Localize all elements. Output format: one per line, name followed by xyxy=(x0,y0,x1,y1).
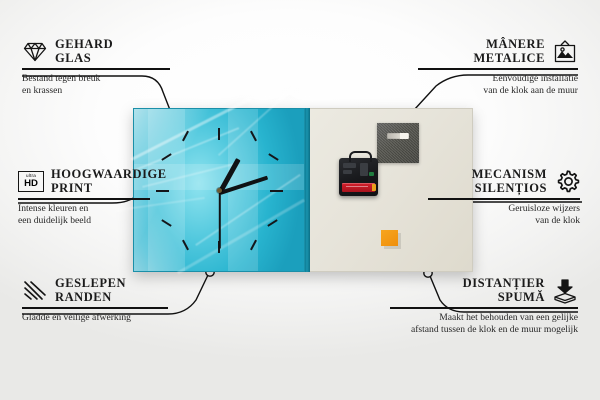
metal-hanger-part xyxy=(377,123,419,163)
diamond-icon xyxy=(22,39,48,65)
feature-title: GEHARD GLAS xyxy=(55,38,113,65)
gear-icon xyxy=(554,169,580,195)
feature-description: Gladde en veilige afwerking xyxy=(22,312,202,324)
feature-rule xyxy=(22,307,168,309)
clock-mechanism-part xyxy=(339,158,378,196)
feature-title: DISTANȚIER SPUMĂ xyxy=(463,277,545,304)
foam-spacer-part xyxy=(381,230,398,246)
feature-heading: GEHARD GLAS xyxy=(22,38,182,65)
clock-center-pin xyxy=(217,188,222,193)
feature-mecanism-silentios[interactable]: MECANISM SILENȚIOS Geruisloze wijzers va… xyxy=(428,168,580,227)
feature-description: Bestand tegen breuk en krassen xyxy=(22,73,182,98)
feature-description: Intense kleuren en een duidelijk beeld xyxy=(18,203,188,228)
mechanism-detail xyxy=(369,172,374,176)
feature-title: GESLEPEN RANDEN xyxy=(55,277,126,304)
mechanism-detail xyxy=(343,163,356,168)
clock-tick xyxy=(270,190,283,192)
feature-title: HOOGWAARDIGE PRINT xyxy=(51,168,167,195)
feature-description: Eenvoudige installatie van de klok aan d… xyxy=(418,73,578,98)
hanger-slot xyxy=(387,133,409,139)
clock-tick xyxy=(268,153,278,161)
feature-heading: ultra HD HOOGWAARDIGE PRINT xyxy=(18,168,188,195)
feature-distantier-spuma[interactable]: DISTANȚIER SPUMĂ Maakt het behouden van … xyxy=(390,277,578,336)
feature-title: MÂNERE METALICE xyxy=(473,38,545,65)
feature-gehard-glas[interactable]: GEHARD GLAS Bestand tegen breuk en krass… xyxy=(22,38,182,97)
mechanism-hook xyxy=(349,151,372,162)
feature-rule xyxy=(18,198,150,200)
feature-rule xyxy=(428,198,580,200)
clock-second-hand xyxy=(219,192,221,248)
feature-description: Maakt het behouden van een gelijke afsta… xyxy=(390,312,578,337)
foam-spacer-icon xyxy=(552,278,578,304)
mechanism-detail xyxy=(343,170,352,174)
picture-frame-hook-icon xyxy=(552,39,578,65)
feature-heading: MÂNERE METALICE xyxy=(418,38,578,65)
infographic-canvas: GEHARD GLAS Bestand tegen breuk en krass… xyxy=(0,0,600,400)
mechanism-detail xyxy=(360,163,368,176)
feature-heading: MECANISM SILENȚIOS xyxy=(428,168,580,195)
feature-hoogwaardige-print[interactable]: ultra HD HOOGWAARDIGE PRINT Intense kleu… xyxy=(18,168,188,227)
feature-geslepen-randen[interactable]: GESLEPEN RANDEN Gladde en veilige afwerk… xyxy=(22,277,202,324)
feature-rule xyxy=(390,307,578,309)
feature-heading: GESLEPEN RANDEN xyxy=(22,277,202,304)
ultra-hd-icon-hd-text: HD xyxy=(24,179,38,189)
clock-tick xyxy=(218,128,220,140)
beveled-edges-icon xyxy=(22,278,48,304)
battery-label-line xyxy=(346,186,368,187)
feature-title: MECANISM SILENȚIOS xyxy=(472,168,547,195)
feature-rule xyxy=(418,68,578,70)
feature-manere-metalice[interactable]: MÂNERE METALICE Eenvoudige installatie v… xyxy=(418,38,578,97)
ultra-hd-icon: ultra HD xyxy=(18,169,44,195)
feature-rule xyxy=(22,68,170,70)
battery-part xyxy=(342,183,375,192)
feature-description: Geruisloze wijzers van de klok xyxy=(428,203,580,228)
feature-heading: DISTANȚIER SPUMĂ xyxy=(390,277,578,304)
